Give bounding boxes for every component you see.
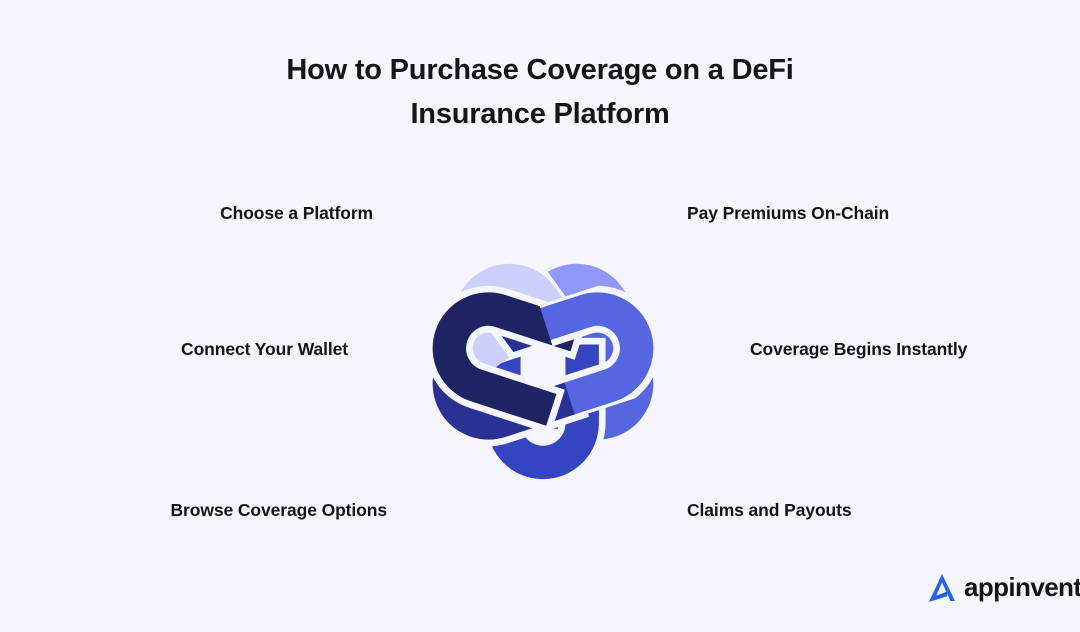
page-title-line-2: Insurance Platform [0, 92, 1080, 136]
page-title: How to Purchase Coverage on a DeFi Insur… [0, 48, 1080, 136]
knot-graphic [352, 192, 734, 540]
step-label-claims-and-payouts: Claims and Payouts [687, 500, 852, 521]
step-label-coverage-begins-instantly: Coverage Begins Instantly [750, 339, 967, 360]
step-label-browse-coverage-options: Browse Coverage Options [170, 500, 387, 521]
appinventiv-a-mark-icon [925, 570, 959, 604]
appinventiv-wordmark: appinventiv [964, 574, 1080, 600]
infographic-canvas: How to Purchase Coverage on a DeFi Insur… [0, 0, 1080, 632]
knot-svg [352, 192, 734, 540]
page-title-line-1: How to Purchase Coverage on a DeFi [0, 48, 1080, 92]
step-label-connect-your-wallet: Connect Your Wallet [181, 339, 348, 360]
step-label-choose-a-platform: Choose a Platform [220, 203, 373, 224]
step-label-pay-premiums-on-chain: Pay Premiums On-Chain [687, 203, 889, 224]
appinventiv-logo: appinventiv [925, 570, 1080, 604]
